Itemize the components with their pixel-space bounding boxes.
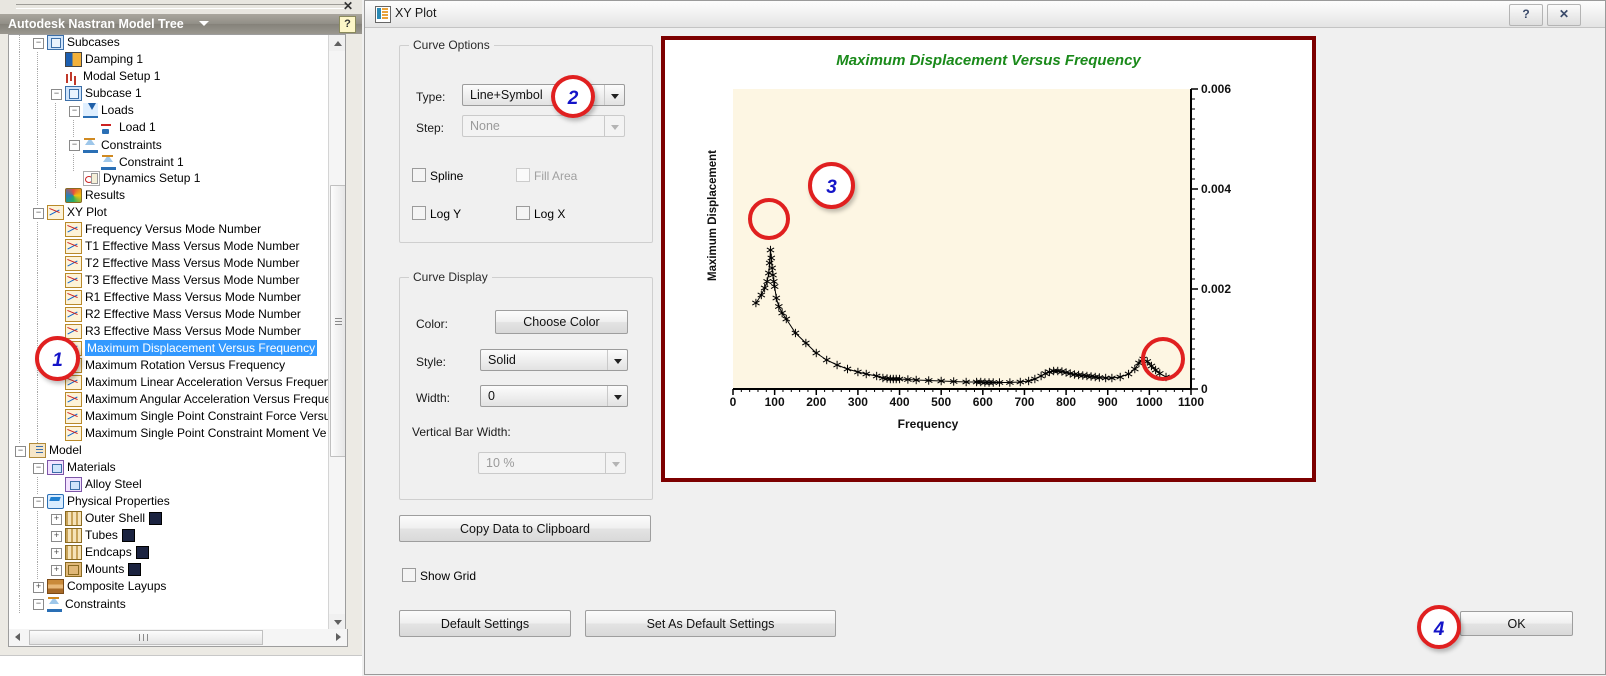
y-tick-label: 0.002 [1201,282,1231,296]
collapse-icon[interactable]: − [33,208,44,219]
tree-guide-line [37,86,38,103]
color-swatch [122,529,135,542]
tree-item-content: R1 Effective Mass Versus Mode Number [65,291,301,305]
tree-guide-line [19,528,20,545]
constraint-icon [101,154,116,170]
annotation-3: 3 [808,162,855,209]
tree-horizontal-scrollbar[interactable] [8,629,348,647]
tree-item-content: Alloy Steel [65,478,142,492]
model-tree-titlebar[interactable]: Autodesk Nastran Model Tree ? [0,14,362,34]
tree-item-t2-effective-mass-versus-mode-number[interactable]: T2 Effective Mass Versus Mode Number [9,256,329,273]
scroll-right-icon[interactable] [331,629,347,644]
tree-guide-line [37,120,38,137]
tree-guide-line [19,460,20,477]
tree-item-content: Composite Layups [47,580,166,594]
xyplot-icon [65,426,82,441]
tree-item-content: R2 Effective Mass Versus Mode Number [65,308,301,322]
physical-properties-icon [47,494,64,509]
pages-icon [47,35,64,50]
collapse-icon[interactable]: − [69,140,80,151]
tree-item-label: Load 1 [119,120,156,134]
tree-item-alloy-steel[interactable]: Alloy Steel [9,477,329,494]
chevron-down-icon[interactable] [604,116,624,136]
tree-guide-line [19,511,20,528]
grid-icon [65,511,82,526]
tree-item-results[interactable]: Results [9,188,329,205]
tree-guide-line [19,409,20,426]
choose-color-button[interactable]: Choose Color [495,310,628,334]
tree-item-label: Tubes [85,528,118,542]
tree-item-content: Endcaps [65,546,149,560]
tree-item-label: Constraints [101,138,162,152]
tree-item-maximum-single-point-constraint-moment-ve[interactable]: Maximum Single Point Constraint Moment V… [9,426,329,443]
style-combo-value: Solid [488,353,516,367]
curve-display-legend: Curve Display [409,270,492,284]
tree-guide-line [19,579,20,596]
tree-item-t3-effective-mass-versus-mode-number[interactable]: T3 Effective Mass Versus Mode Number [9,273,329,290]
tree-item-constraint-1[interactable]: Constraint 1 [9,154,329,171]
tree-item-content: Subcase 1 [65,87,142,101]
xyplot-icon [65,324,82,339]
vertical-bar-width-label: Vertical Bar Width: [412,425,511,439]
expand-icon[interactable]: + [51,565,62,576]
bars-icon [65,71,80,84]
scroll-up-icon[interactable] [329,35,345,51]
tree-item-label: T3 Effective Mass Versus Mode Number [85,273,300,287]
x-tick-label: 200 [806,395,826,409]
annotation-1: 1 [35,336,80,381]
x-tick-label: 300 [848,395,868,409]
tree-item-content: Frequency Versus Mode Number [65,223,261,237]
vertical-bar-width-value: 10 % [486,456,515,470]
tree-guide-line [55,103,56,120]
tree-item-content: Model [29,444,82,458]
checkbox-box [516,206,530,220]
tree-guide-line [19,562,20,579]
tree-guide-line [37,375,38,392]
tree-guide-line [19,188,20,205]
tree-item-content: R3 Effective Mass Versus Mode Number [65,325,301,339]
tree-item-label: Maximum Single Point Constraint Moment V… [85,426,326,440]
expand-icon[interactable]: + [51,548,62,559]
tree-item-label: Alloy Steel [85,477,142,491]
collapse-icon[interactable]: − [33,38,44,49]
xyplot-icon [65,239,82,254]
panel-top-strip: ✕ [0,0,362,15]
tree-item-label: Modal Setup 1 [83,69,160,83]
tree-guide-line [37,528,38,545]
step-combo[interactable]: None [462,115,625,137]
tree-item-label: Maximum Single Point Constraint Force Ve… [85,409,329,423]
tree-guide-line [19,103,20,120]
tree-item-outer-shell[interactable]: +Outer Shell [9,511,329,528]
ok-button[interactable]: OK [1460,611,1573,636]
set-as-default-settings-button[interactable]: Set As Default Settings [585,610,836,637]
tree-item-endcaps[interactable]: +Endcaps [9,545,329,562]
tree-guide-line [37,154,38,171]
layup-icon [47,579,64,594]
tree-item-tubes[interactable]: +Tubes [9,528,329,545]
annotation-circle-resonance [1141,337,1185,381]
tree-item-materials[interactable]: −Materials [9,460,329,477]
x-tick-label: 500 [931,395,951,409]
tree-guide-line [37,188,38,205]
tree-guide-line [73,120,74,137]
grid-icon [65,528,82,543]
tree-item-label: Frequency Versus Mode Number [85,222,261,236]
xyplot-icon [65,256,82,271]
default-settings-button[interactable]: Default Settings [399,610,571,637]
tree-guide-line [19,86,20,103]
log-x-checkbox[interactable]: Log X [516,206,565,221]
vertical-bar-width-combo[interactable]: 10 % [478,452,626,474]
xyplot-icon [65,273,82,288]
tree-item-label: Constraints [65,597,126,611]
tree-guide-line [19,154,20,171]
tree-guide-line [19,426,20,443]
tree-guide-line [55,171,56,188]
color-label: Color: [416,317,448,331]
x-tick-label: 400 [890,395,910,409]
model-tree-list: −SubcasesDamping 1Modal Setup 1−Subcase … [9,35,329,630]
xyplot-icon [47,205,64,220]
tree-item-content: Maximum Displacement Versus Frequency [65,342,317,356]
xyplot-icon [65,222,82,237]
y-tick-label: 0 [1201,382,1208,396]
tree-item-content: Tubes [65,529,135,543]
tree-item-physical-properties[interactable]: −Physical Properties [9,494,329,511]
type-label: Type: [416,90,445,104]
show-grid-checkbox[interactable]: Show Grid [402,568,476,583]
x-tick-label: 900 [1098,395,1118,409]
scroll-left-icon[interactable] [9,629,25,644]
tree-item-t1-effective-mass-versus-mode-number[interactable]: T1 Effective Mass Versus Mode Number [9,239,329,256]
tree-guide-line [37,307,38,324]
tree-item-composite-layups[interactable]: +Composite Layups [9,579,329,596]
chart-axes-svg [665,40,1312,478]
style-combo[interactable]: Solid [480,349,628,371]
panel-drag-rule [16,4,346,9]
expand-icon[interactable]: + [51,531,62,542]
tree-item-label: R1 Effective Mass Versus Mode Number [85,290,301,304]
tree-guide-line [55,120,56,137]
dialog-title: XY Plot [395,6,436,20]
damping-icon [65,52,82,67]
tree-item-label: Physical Properties [67,494,170,508]
panel-close-icon[interactable]: ✕ [340,0,356,14]
xyplot-icon [65,392,82,407]
checkbox-box [412,206,426,220]
xyplot-icon [65,307,82,322]
type-combo[interactable]: Line+Symbol [462,84,625,106]
tree-item-label: T2 Effective Mass Versus Mode Number [85,256,300,270]
tree-guide-line [19,222,20,239]
chevron-down-icon[interactable] [607,350,627,370]
x-tick-label: 1100 [1178,395,1204,409]
chevron-down-icon[interactable] [199,21,209,26]
show-grid-label: Show Grid [420,569,476,583]
tree-item-r2-effective-mass-versus-mode-number[interactable]: R2 Effective Mass Versus Mode Number [9,307,329,324]
curve-options-legend: Curve Options [409,38,494,52]
tree-guide-line [37,426,38,443]
tree-guide-line [19,273,20,290]
tree-item-content: Subcases [47,36,120,50]
tree-guide-line [19,545,20,562]
tree-item-maximum-angular-acceleration-versus-freque[interactable]: Maximum Angular Acceleration Versus Freq… [9,392,329,409]
tree-item-frequency-versus-mode-number[interactable]: Frequency Versus Mode Number [9,222,329,239]
tree-guide-line [37,409,38,426]
collapse-icon[interactable]: − [69,106,80,117]
color-swatch [136,546,149,559]
tree-item-label: T1 Effective Mass Versus Mode Number [85,239,300,253]
xy-plot-dialog: XY Plot ? ✕ Curve Options Type: Line+Sym… [364,0,1606,675]
constraint-icon [47,596,62,612]
x-tick-label: 100 [765,395,785,409]
material-icon [47,460,64,475]
tree-item-content: Constraints [47,598,126,612]
tree-guide-line [37,256,38,273]
collapse-icon[interactable]: − [51,89,62,100]
panel-footer [0,655,362,676]
tree-guide-line [73,154,74,171]
tree-item-damping-1[interactable]: Damping 1 [9,52,329,69]
tree-item-content: Outer Shell [65,512,162,526]
tree-item-label: Constraint 1 [119,155,184,169]
tree-item-content: Maximum Single Point Constraint Moment V… [65,427,326,441]
scroll-down-icon[interactable] [329,614,345,630]
tree-guide-line [37,392,38,409]
tree-guide-line [37,171,38,188]
tree-item-content: Loads [83,104,134,118]
fill-area-label: Fill Area [534,169,577,183]
chart-frame: Maximum Displacement Versus Frequency Ma… [661,36,1316,482]
cube-icon [65,562,82,577]
tree-item-content: Results [65,189,125,203]
annotation-circle-peak [748,198,790,240]
dialog-titlebar[interactable]: XY Plot ? ✕ [365,1,1605,28]
tree-guide-line [19,69,20,86]
tree-item-label: Materials [67,460,116,474]
tree-guide-line [19,205,20,222]
tree-guide-line [19,375,20,392]
tree-item-label: Composite Layups [67,579,166,593]
log-y-checkbox[interactable]: Log Y [412,206,461,221]
tree-item-content: Maximum Single Point Constraint Force Ve… [65,410,329,424]
tree-item-label: Model [49,443,82,457]
log-y-label: Log Y [430,207,461,221]
tree-item-content: T2 Effective Mass Versus Mode Number [65,257,300,271]
tree-guide-line [19,239,20,256]
tree-vertical-scrollbar[interactable] [328,35,345,630]
width-label: Width: [416,391,450,405]
tree-item-label: Subcases [67,35,120,49]
tree-item-label: XY Plot [67,205,107,219]
tree-guide-line [19,307,20,324]
load-icon [101,122,116,135]
collapse-icon[interactable]: − [33,599,44,610]
checkbox-box [412,168,426,182]
xyplot-icon [65,290,82,305]
tree-item-label: Mounts [85,562,124,576]
annotation-4: 4 [1417,605,1461,649]
chevron-down-icon[interactable] [607,386,627,406]
spline-checkbox[interactable]: Spline [412,168,463,183]
grid-icon [65,545,82,560]
tree-item-content: Maximum Angular Acceleration Versus Freq… [65,393,329,407]
expand-icon[interactable]: + [51,514,62,525]
tree-guide-line [19,596,20,613]
tree-item-content: Dynamics Setup 1 [83,172,200,186]
tree-item-label: Dynamics Setup 1 [103,171,200,185]
tree-item-constraints[interactable]: −Constraints [9,596,329,613]
tree-item-label: R2 Effective Mass Versus Mode Number [85,307,301,321]
chevron-down-icon[interactable] [604,85,624,105]
copy-data-to-clipboard-button[interactable]: Copy Data to Clipboard [399,515,651,542]
tree-item-load-1[interactable]: Load 1 [9,120,329,137]
tree-item-constraints[interactable]: −Constraints [9,137,329,154]
y-tick-label: 0.006 [1201,82,1231,96]
tree-guide-line [19,35,20,52]
tree-item-dynamics-setup-1[interactable]: Dynamics Setup 1 [9,171,329,188]
tree-guide-line [19,324,20,341]
model-icon [29,443,46,458]
tree-item-content: T3 Effective Mass Versus Mode Number [65,274,300,288]
tree-item-xy-plot[interactable]: −XY Plot [9,205,329,222]
tree-item-content: Damping 1 [65,53,143,67]
tree-guide-line [37,477,38,494]
tree-guide-line [37,273,38,290]
tree-item-modal-setup-1[interactable]: Modal Setup 1 [9,69,329,86]
constraint-icon [83,137,98,153]
tree-guide-line [19,477,20,494]
tree-item-label: Maximum Linear Acceleration Versus Frequ… [85,375,329,389]
material-icon [65,477,82,492]
tree-item-maximum-single-point-constraint-force-versu[interactable]: Maximum Single Point Constraint Force Ve… [9,409,329,426]
tree-guide-line [19,494,20,511]
tree-item-content: Materials [47,461,116,475]
tree-guide-line [37,222,38,239]
tree-guide-line [19,171,20,188]
tree-guide-line [37,290,38,307]
tree-item-content: Maximum Rotation Versus Frequency [65,359,285,373]
tree-guide-line [37,545,38,562]
tree-item-r1-effective-mass-versus-mode-number[interactable]: R1 Effective Mass Versus Mode Number [9,290,329,307]
x-tick-label: 600 [973,395,993,409]
collapse-icon[interactable]: − [33,463,44,474]
tree-guide-line [19,341,20,358]
x-tick-label: 700 [1014,395,1034,409]
tree-guide-line [55,137,56,154]
tree-guide-line [37,239,38,256]
x-tick-label: 0 [730,395,737,409]
tree-item-label: Maximum Rotation Versus Frequency [85,358,285,372]
annotation-2: 2 [551,75,595,118]
tree-item-label: Endcaps [85,545,132,559]
type-combo-value: Line+Symbol [470,88,543,102]
tree-guide-line [19,358,20,375]
tree-guide-line [19,120,20,137]
x-tick-label: 800 [1056,395,1076,409]
checkbox-box [402,568,416,582]
y-tick-label: 0.004 [1201,182,1231,196]
tree-vscroll-thumb[interactable] [330,185,346,457]
tree-item-content: Mounts [65,563,141,577]
dynamics-icon [83,171,100,186]
curve-display-group: Curve Display Color: Choose Color Style:… [399,277,653,500]
tree-item-content: Maximum Linear Acceleration Versus Frequ… [65,376,329,390]
tree-guide-line [37,103,38,120]
tree-item-content: XY Plot [47,206,107,220]
tree-guide-line [37,137,38,154]
tree-item-mounts[interactable]: +Mounts [9,562,329,579]
tree-guide-line [37,69,38,86]
tree-item-label: Maximum Angular Acceleration Versus Freq… [85,392,329,406]
log-x-label: Log X [534,207,565,221]
width-combo[interactable]: 0 [480,385,628,407]
width-combo-value: 0 [488,389,495,403]
collapse-icon[interactable]: − [33,497,44,508]
tree-guide-line [37,52,38,69]
tree-item-label: Outer Shell [85,511,145,525]
chevron-down-icon[interactable] [605,453,625,473]
tree-hscroll-thumb[interactable] [29,630,263,645]
curve-options-group: Curve Options Type: Line+Symbol Step: No… [399,45,653,243]
model-tree-title: Autodesk Nastran Model Tree [8,17,184,31]
spline-label: Spline [430,169,463,183]
xyplot-icon [65,409,82,424]
pages-icon [65,86,82,101]
help-icon[interactable]: ? [339,16,356,33]
step-combo-value: None [470,119,500,133]
tree-item-content: Load 1 [101,121,156,135]
tree-guide-line [19,52,20,69]
tree-item-subcase-1[interactable]: −Subcase 1 [9,86,329,103]
step-label: Step: [416,121,444,135]
tree-item-label: Maximum Displacement Versus Frequency [85,340,317,356]
collapse-icon[interactable]: − [15,446,26,457]
tree-guide-line [37,324,38,341]
tree-item-content: Constraints [83,139,162,153]
tree-item-subcases[interactable]: −Subcases [9,35,329,52]
tree-item-model[interactable]: −Model [9,443,329,460]
tree-guide-line [19,392,20,409]
x-tick-label: 1000 [1136,395,1163,409]
results-icon [65,188,82,203]
tree-item-content: T1 Effective Mass Versus Mode Number [65,240,300,254]
dialog-close-button[interactable]: ✕ [1547,4,1581,26]
style-label: Style: [416,355,446,369]
loads-icon [83,103,98,118]
tree-guide-line [19,290,20,307]
expand-icon[interactable]: + [33,582,44,593]
tree-item-label: Loads [101,103,134,117]
color-swatch [128,563,141,576]
tree-guide-line [55,154,56,171]
tree-guide-line [19,137,20,154]
tree-guide-line [37,511,38,528]
tree-item-label: Subcase 1 [85,86,142,100]
tree-item-content: Constraint 1 [101,156,184,170]
tree-guide-line [19,256,20,273]
tree-item-content: Physical Properties [47,495,170,509]
tree-item-loads[interactable]: −Loads [9,103,329,120]
tree-item-label: R3 Effective Mass Versus Mode Number [85,324,301,338]
fill-area-checkbox[interactable]: Fill Area [516,168,577,183]
xy-plot-icon [375,6,391,23]
dialog-help-button[interactable]: ? [1509,4,1543,26]
model-tree-body: −SubcasesDamping 1Modal Setup 1−Subcase … [8,34,346,631]
tree-item-content: Modal Setup 1 [65,70,160,84]
